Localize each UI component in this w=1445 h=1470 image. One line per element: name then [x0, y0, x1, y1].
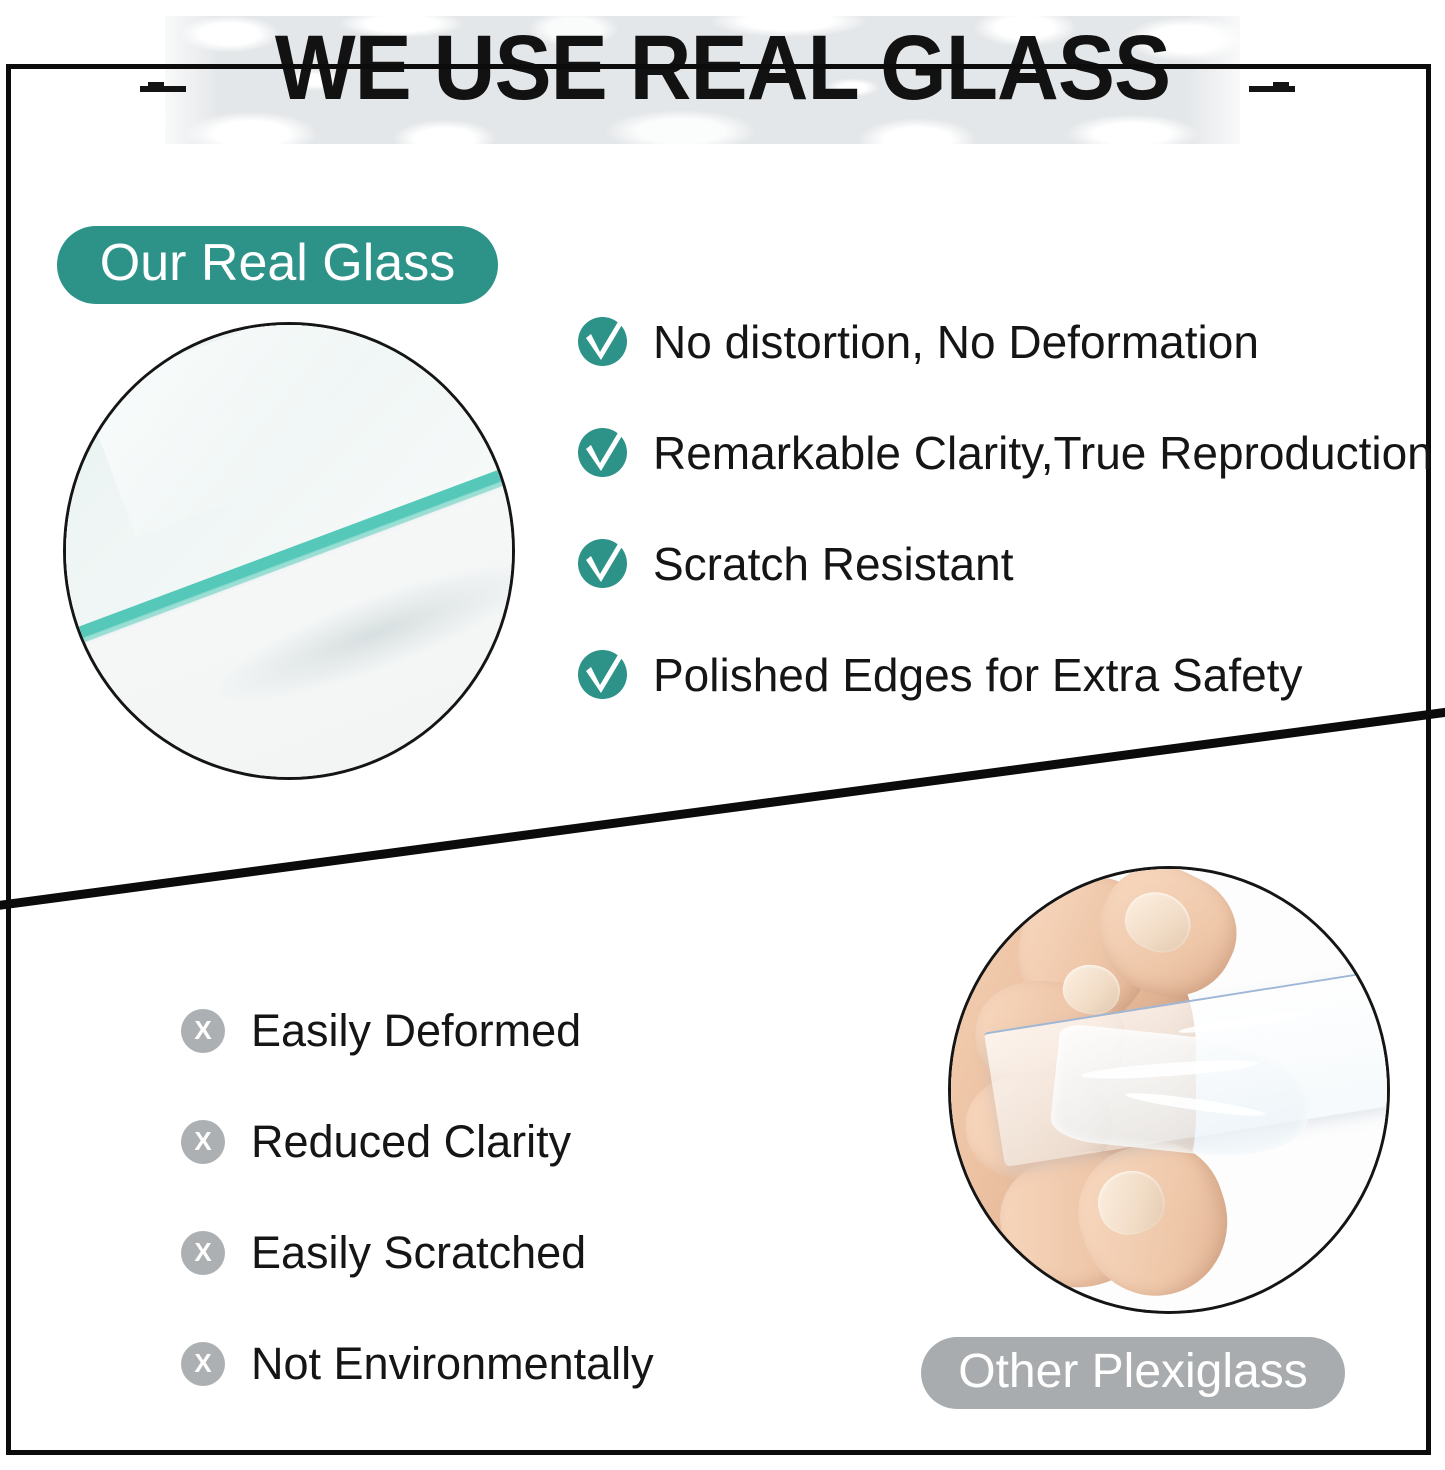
list-item-label: Polished Edges for Extra Safety [653, 650, 1302, 700]
list-item-label: Scratch Resistant [653, 539, 1013, 589]
list-item-label: Easily Scratched [251, 1228, 586, 1278]
plexiglass-photo [948, 866, 1390, 1314]
check-icon [578, 650, 627, 699]
badge-our-real-glass: Our Real Glass [57, 226, 498, 304]
check-icon [578, 317, 627, 366]
plexiglass-illustration [948, 866, 1390, 1314]
x-icon: X [181, 1120, 225, 1164]
list-item: X Easily Deformed [181, 975, 881, 1086]
real-glass-illustration [63, 322, 515, 780]
list-item: Remarkable Clarity,True Reproduction [578, 397, 1438, 508]
list-item-label: Not Environmentally [251, 1339, 654, 1389]
list-item-label: No distortion, No Deformation [653, 317, 1259, 367]
real-glass-photo [63, 322, 515, 780]
list-item: Scratch Resistant [578, 508, 1438, 619]
x-icon: X [181, 1231, 225, 1275]
list-item: Polished Edges for Extra Safety [578, 619, 1438, 730]
check-icon [578, 539, 627, 588]
list-item: X Easily Scratched [181, 1197, 881, 1308]
list-item-label: Easily Deformed [251, 1006, 581, 1056]
x-icon: X [181, 1009, 225, 1053]
x-icon: X [181, 1342, 225, 1386]
list-item-label: Remarkable Clarity,True Reproduction [653, 428, 1433, 478]
badge-other-plexiglass: Other Plexiglass [921, 1337, 1345, 1409]
check-icon [578, 428, 627, 477]
cons-list: X Easily Deformed X Reduced Clarity X Ea… [181, 975, 881, 1419]
list-item: No distortion, No Deformation [578, 286, 1438, 397]
pros-list: No distortion, No Deformation Remarkable… [578, 286, 1438, 730]
list-item: X Reduced Clarity [181, 1086, 881, 1197]
list-item-label: Reduced Clarity [251, 1117, 571, 1167]
list-item: X Not Environmentally [181, 1308, 881, 1419]
